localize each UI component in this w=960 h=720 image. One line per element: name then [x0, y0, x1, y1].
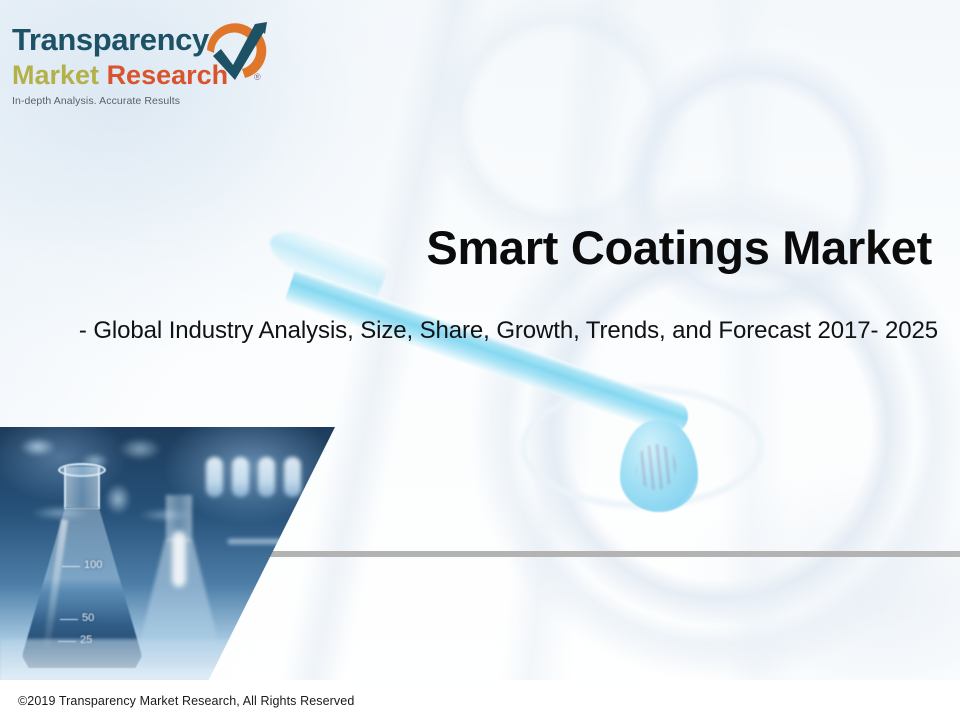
report-cover-slide: Transparency Market Research In-depth An…	[0, 0, 960, 720]
divider-bar	[262, 551, 960, 557]
report-title: Smart Coatings Market	[0, 222, 932, 274]
test-tube	[284, 457, 301, 497]
test-tube	[206, 457, 223, 497]
flask-neck	[64, 467, 100, 509]
test-tube	[232, 457, 249, 497]
flask-highlight	[172, 531, 186, 587]
test-tube	[258, 457, 275, 497]
flask-graduation-100: 100	[84, 559, 102, 571]
checkmark-arrow-logo-icon	[197, 16, 275, 94]
report-subtitle: - Global Industry Analysis, Size, Share,…	[0, 316, 938, 346]
company-logo[interactable]: Transparency Market Research In-depth An…	[12, 24, 282, 124]
flask-graduation-50: 50	[82, 612, 94, 624]
copyright-text: ©2019 Transparency Market Research, All …	[18, 694, 354, 708]
logo-text-market: Market	[12, 60, 99, 90]
logo-tagline: In-depth Analysis. Accurate Results	[12, 95, 282, 107]
registered-trademark-icon: ®	[254, 72, 261, 82]
primary-erlenmeyer-flask: 100 50 25	[22, 467, 140, 667]
